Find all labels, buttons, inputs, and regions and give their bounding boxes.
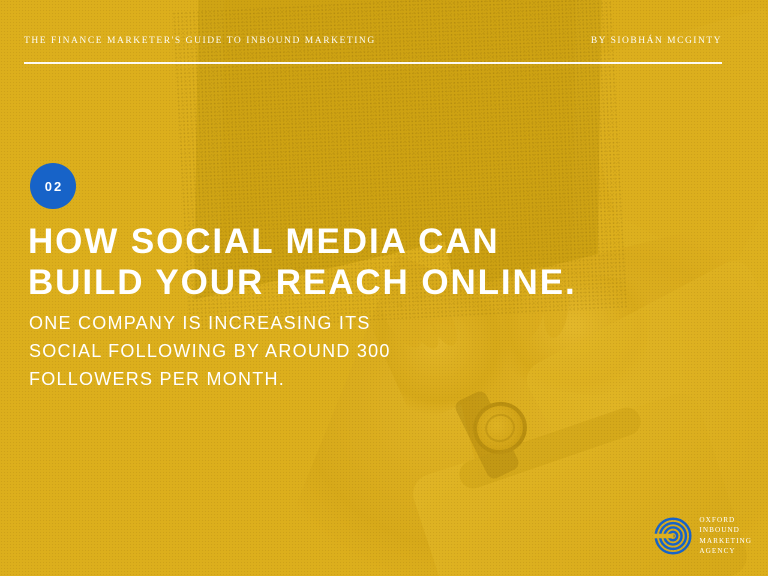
slide-headline: How Social Media Can Build Your Reach On… [28, 222, 648, 303]
logo-line-4: Agency [699, 546, 752, 556]
subheadline-line-3: Followers Per Month. [29, 366, 509, 394]
agency-logo-text: Oxford Inbound Marketing Agency [699, 515, 752, 556]
logo-line-3: Marketing [699, 536, 752, 546]
presentation-slide: The Finance Marketer's Guide to Inbound … [0, 0, 768, 576]
slide-content: The Finance Marketer's Guide to Inbound … [0, 0, 768, 576]
author-byline: By Siobhán McGinty [591, 36, 722, 46]
subheadline-line-1: One Company is Increasing Its [29, 310, 509, 338]
agency-logo: Oxford Inbound Marketing Agency [654, 515, 752, 556]
logo-line-2: Inbound [699, 525, 752, 535]
subheadline-line-2: Social Following by Around 300 [29, 338, 509, 366]
guide-title-kicker: The Finance Marketer's Guide to Inbound … [24, 36, 376, 46]
section-number-badge: 02 [30, 163, 76, 209]
concentric-target-icon [654, 517, 692, 555]
header-divider-rule [24, 62, 722, 64]
slide-header: The Finance Marketer's Guide to Inbound … [24, 36, 722, 46]
headline-line-2: Build Your Reach Online. [28, 263, 648, 304]
logo-line-1: Oxford [699, 515, 752, 525]
section-number-label: 02 [43, 179, 63, 194]
slide-subheadline: One Company is Increasing Its Social Fol… [29, 310, 509, 394]
headline-line-1: How Social Media Can [28, 222, 648, 263]
